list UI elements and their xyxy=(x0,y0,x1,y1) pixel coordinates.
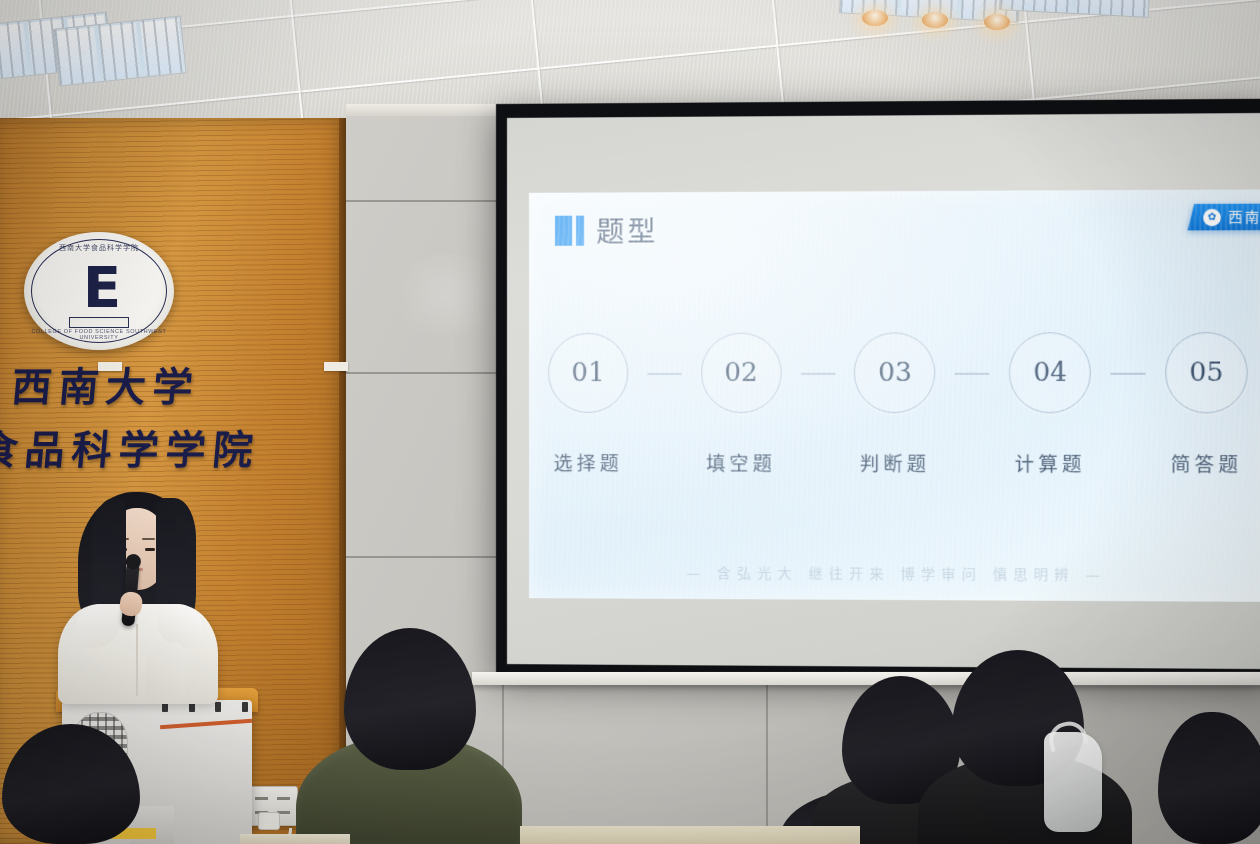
slide-university-logo: ✿ 西南 xyxy=(1188,204,1260,231)
step-label: 计算题 xyxy=(1015,450,1086,477)
emblem-ring-text: COLLEGE OF FOOD SCIENCE SOUTHWEST UNIVER… xyxy=(24,329,174,341)
step-number-circle: 05 xyxy=(1165,332,1248,413)
projection-screen-surface: 题型 ✿ 西南 01 选择题 02 填空题 xyxy=(507,113,1260,669)
emblem-monogram-icon: E xyxy=(83,261,115,317)
audience-member-green-jacket xyxy=(296,628,522,844)
microphone-head xyxy=(125,553,141,569)
university-seal-icon: ✿ xyxy=(1203,208,1221,225)
wall-calligraphy-line1: 西南大学 xyxy=(9,355,202,413)
step-number-circle: 04 xyxy=(1009,332,1091,413)
audience-member-right-edge xyxy=(1158,712,1260,844)
step-item[interactable]: 05 简答题 xyxy=(1146,332,1260,478)
step-connector xyxy=(955,373,990,375)
downlight-icon xyxy=(984,14,1010,30)
downlight-icon xyxy=(922,12,948,28)
presenter-jacket-zipper xyxy=(136,624,138,696)
slide-footer-motto: — 含弘光大 继往开来 博学审问 慎思明辨 — xyxy=(529,562,1260,585)
projection-screen-frame: 题型 ✿ 西南 01 选择题 02 填空题 xyxy=(496,99,1260,680)
lectern-control-knobs[interactable] xyxy=(162,702,248,716)
wall-fixture-tag xyxy=(324,362,348,371)
question-type-steps: 01 选择题 02 填空题 03 判断题 04 xyxy=(529,332,1260,478)
step-item[interactable]: 02 填空题 xyxy=(681,333,800,477)
presenter xyxy=(58,492,218,704)
title-bar-marker-icon xyxy=(555,216,584,246)
step-item[interactable]: 01 选择题 xyxy=(529,333,647,477)
step-connector xyxy=(647,373,681,375)
presentation-slide: 题型 ✿ 西南 01 选择题 02 填空题 xyxy=(529,189,1260,602)
step-label: 判断题 xyxy=(860,450,930,477)
step-item[interactable]: 03 判断题 xyxy=(835,332,955,477)
lecture-hall-photo: 西南大学食品科学学院 E COLLEGE OF FOOD SCIENCE SOU… xyxy=(0,0,1260,844)
slide-title-row: 题型 xyxy=(555,210,658,250)
slide-title: 题型 xyxy=(596,210,658,250)
emblem-top-text: 西南大学食品科学学院 xyxy=(24,243,174,253)
step-number-circle: 02 xyxy=(701,333,782,414)
audience-member-front-left xyxy=(0,724,184,844)
step-label: 填空题 xyxy=(706,449,776,476)
college-emblem: 西南大学食品科学学院 E COLLEGE OF FOOD SCIENCE SOU… xyxy=(24,232,174,350)
step-label: 选择题 xyxy=(553,449,622,476)
wall-calligraphy-line2: 食品科学学院 xyxy=(0,418,263,476)
downlight-icon xyxy=(862,10,888,26)
presenter-arm xyxy=(146,642,186,704)
step-item[interactable]: 04 计算题 xyxy=(990,332,1111,477)
step-connector xyxy=(801,373,836,375)
emblem-scroll xyxy=(69,317,129,328)
step-connector xyxy=(1111,373,1146,375)
step-number-circle: 03 xyxy=(854,332,935,413)
plastic-bag xyxy=(1044,732,1102,832)
desk-surface-left xyxy=(240,834,350,844)
step-number-circle: 01 xyxy=(548,333,628,413)
desk-surface xyxy=(520,826,860,844)
step-label: 简答题 xyxy=(1171,450,1242,478)
university-logo-text: 西南 xyxy=(1228,207,1260,227)
